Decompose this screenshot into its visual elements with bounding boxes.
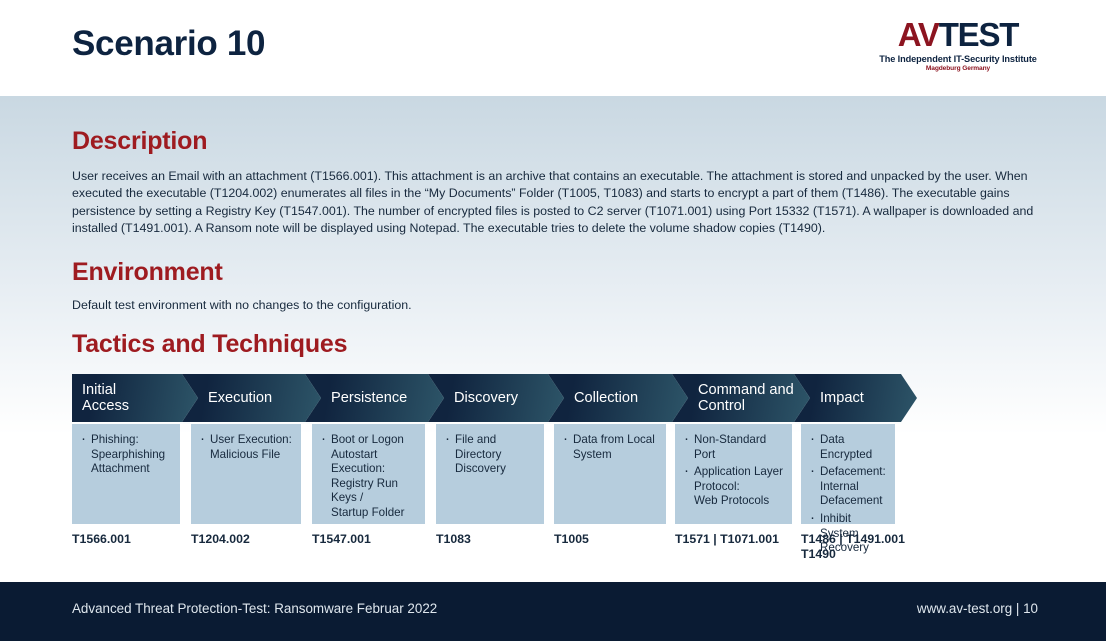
technique-id-label: T1204.002: [191, 532, 331, 547]
tactic-label: InitialAccess: [82, 382, 129, 414]
tactic-chevron-impact[interactable]: Impact: [794, 374, 917, 422]
technique-id-label: T1547.001: [312, 532, 455, 547]
slide-header: Scenario 10 AVTEST The Independent IT-Se…: [0, 0, 1106, 96]
logo-test-text: TEST: [939, 16, 1019, 53]
tactic-label: Collection: [574, 390, 638, 406]
technique-cell: Data EncryptedDefacement:InternalDefacem…: [801, 424, 895, 524]
technique-id-label: T1571 | T1071.001: [675, 532, 822, 547]
description-text: User receives an Email with an attachmen…: [72, 168, 1034, 238]
technique-list: Data from LocalSystem: [562, 433, 660, 462]
technique-cell: Phishing:SpearphishingAttachment: [72, 424, 180, 524]
technique-item: Data Encrypted: [809, 433, 889, 462]
technique-list: User Execution:Malicious File: [199, 433, 295, 462]
logo-location: Magdeburg Germany: [878, 65, 1038, 72]
technique-item: Defacement:InternalDefacement: [809, 465, 889, 509]
technique-item: Application LayerProtocol:Web Protocols: [683, 465, 786, 509]
tactic-chevron-command-and-control[interactable]: Command andControl: [672, 374, 810, 422]
technique-cell: Non-Standard PortApplication LayerProtoc…: [675, 424, 792, 524]
tactic-chevron-initial-access[interactable]: InitialAccess: [72, 374, 198, 422]
technique-list: Non-Standard PortApplication LayerProtoc…: [683, 433, 786, 509]
technique-cell: User Execution:Malicious File: [191, 424, 301, 524]
tactic-label: Persistence: [331, 390, 407, 406]
environment-heading: Environment: [72, 258, 223, 287]
tactic-chevron-collection[interactable]: Collection: [548, 374, 688, 422]
description-heading: Description: [72, 127, 207, 156]
tactic-chevron-persistence[interactable]: Persistence: [305, 374, 444, 422]
tactics-chevron-row: InitialAccessExecutionPersistenceDiscove…: [72, 374, 917, 422]
tactic-chevron-discovery[interactable]: Discovery: [428, 374, 564, 422]
tactic-chevron-execution[interactable]: Execution: [182, 374, 321, 422]
tactic-label: Impact: [820, 390, 864, 406]
slide-body: Description User receives an Email with …: [0, 96, 1106, 580]
technique-cell: File and DirectoryDiscovery: [436, 424, 544, 524]
technique-cell: Data from LocalSystem: [554, 424, 666, 524]
technique-list: Boot or LogonAutostart Execution:Registr…: [320, 433, 419, 521]
technique-list: Phishing:SpearphishingAttachment: [80, 433, 174, 477]
technique-list: File and DirectoryDiscovery: [444, 433, 538, 477]
slide-footer: Advanced Threat Protection-Test: Ransomw…: [0, 582, 1106, 641]
footer-site-and-page: www.av-test.org | 10: [917, 601, 1038, 616]
technique-item: Boot or LogonAutostart Execution:Registr…: [320, 433, 419, 521]
technique-item: User Execution:Malicious File: [199, 433, 295, 462]
tactic-label: Execution: [208, 390, 272, 406]
av-test-logo: AVTEST The Independent IT-Security Insti…: [878, 18, 1038, 72]
technique-item: Data from LocalSystem: [562, 433, 660, 462]
footer-report-title: Advanced Threat Protection-Test: Ransomw…: [72, 601, 437, 616]
slide: Scenario 10 AVTEST The Independent IT-Se…: [0, 0, 1106, 641]
technique-id-label: T1566.001: [72, 532, 210, 547]
technique-item: File and DirectoryDiscovery: [444, 433, 538, 477]
technique-item: Non-Standard Port: [683, 433, 786, 462]
logo-wordmark: AVTEST: [878, 18, 1038, 51]
logo-tagline: The Independent IT-Security Institute: [878, 54, 1038, 64]
page-title: Scenario 10: [72, 24, 265, 64]
technique-item: Phishing:SpearphishingAttachment: [80, 433, 174, 477]
tactics-heading: Tactics and Techniques: [72, 330, 347, 359]
tactic-label: Command andControl: [698, 382, 794, 414]
technique-cell: Boot or LogonAutostart Execution:Registr…: [312, 424, 425, 524]
environment-text: Default test environment with no changes…: [72, 297, 1034, 314]
tactic-label: Discovery: [454, 390, 518, 406]
logo-av-text: AV: [898, 16, 939, 53]
technique-id-label: T1486 | T1491.001 T1490: [801, 532, 925, 561]
